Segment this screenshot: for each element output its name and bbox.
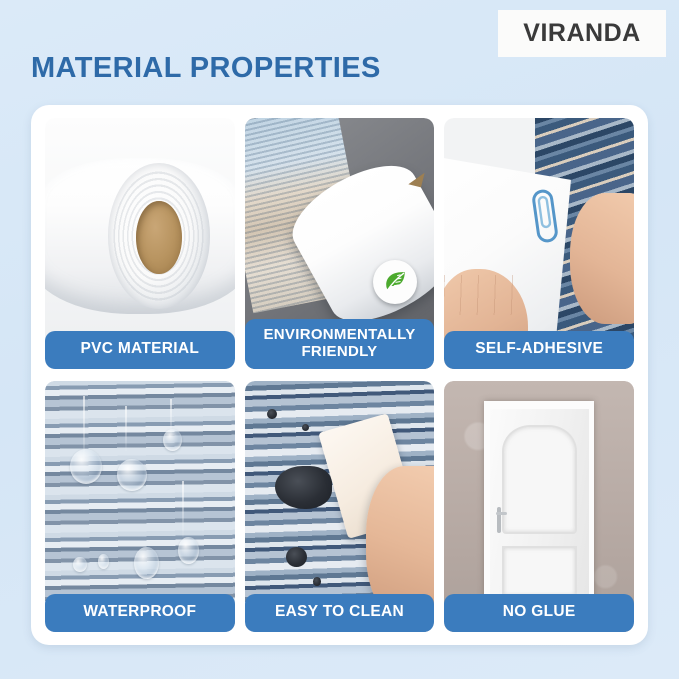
hand-right bbox=[570, 193, 634, 324]
water-trail-2 bbox=[125, 406, 127, 451]
water-droplet-5 bbox=[178, 537, 199, 565]
stain-large bbox=[275, 466, 332, 509]
stain-small-1 bbox=[267, 409, 276, 419]
feature-card-pvc-material[interactable]: PVC MATERIAL bbox=[45, 118, 235, 369]
feature-label-no-glue: NO GLUE bbox=[444, 594, 634, 632]
water-droplet-6 bbox=[73, 557, 86, 572]
white-door bbox=[490, 409, 589, 604]
stain-medium bbox=[286, 547, 307, 567]
page-title: MATERIAL PROPERTIES bbox=[31, 52, 381, 85]
brand-logo: VIRANDA bbox=[498, 10, 666, 57]
features-panel: PVC MATERIAL bbox=[31, 105, 648, 645]
door-panel-top bbox=[502, 425, 577, 534]
feature-label-line1: ENVIRONMENTALLY bbox=[263, 326, 415, 343]
feature-label-line2: FRIENDLY bbox=[301, 343, 377, 360]
feature-card-no-glue[interactable]: NO GLUE bbox=[444, 381, 634, 632]
feature-label-environmentally-friendly: ENVIRONMENTALLY FRIENDLY bbox=[245, 319, 435, 369]
water-droplet-1 bbox=[70, 449, 102, 484]
feature-label-pvc-material: PVC MATERIAL bbox=[45, 331, 235, 369]
feature-label-self-adhesive: SELF-ADHESIVE bbox=[444, 331, 634, 369]
water-droplet-3 bbox=[163, 429, 182, 452]
stain-small-4 bbox=[313, 577, 321, 586]
eco-badge bbox=[373, 260, 417, 304]
water-trail-4 bbox=[182, 481, 184, 536]
feature-label-easy-to-clean: EASY TO CLEAN bbox=[245, 594, 435, 632]
leaf-icon bbox=[382, 268, 409, 295]
features-grid: PVC MATERIAL bbox=[45, 118, 634, 632]
feature-card-environmentally-friendly[interactable]: ENVIRONMENTALLY FRIENDLY bbox=[245, 118, 435, 369]
feature-card-waterproof[interactable]: WATERPROOF bbox=[45, 381, 235, 632]
brand-name: VIRANDA bbox=[523, 19, 640, 48]
door-panel-bottom bbox=[502, 546, 577, 597]
feature-card-self-adhesive[interactable]: SELF-ADHESIVE bbox=[444, 118, 634, 369]
water-droplet-4 bbox=[134, 547, 159, 580]
door-handle bbox=[497, 507, 501, 533]
feature-label-waterproof: WATERPROOF bbox=[45, 594, 235, 632]
pvc-roll-core bbox=[136, 201, 182, 274]
door-frame bbox=[484, 401, 594, 604]
feature-card-easy-to-clean[interactable]: EASY TO CLEAN bbox=[245, 381, 435, 632]
